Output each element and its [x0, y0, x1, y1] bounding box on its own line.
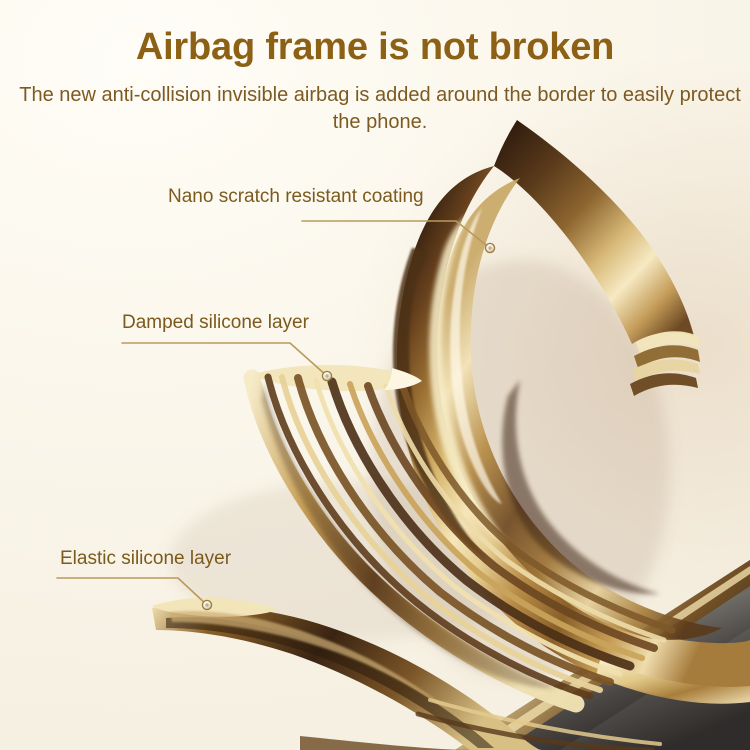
page-subtitle: The new anti-collision invisible airbag …: [16, 82, 744, 136]
callout-marker-center-nano-coating: [488, 246, 491, 249]
callout-label-elastic-silicone: Elastic silicone layer: [60, 548, 231, 570]
page-title: Airbag frame is not broken: [0, 26, 750, 69]
callout-label-nano-coating: Nano scratch resistant coating: [168, 186, 424, 208]
callout-label-damped-silicone: Damped silicone layer: [122, 312, 309, 334]
frame-rim-layers: [630, 331, 700, 396]
callout-marker-nano-coating: [485, 243, 494, 252]
product-feature-image: Airbag frame is not broken The new anti-…: [0, 0, 750, 750]
